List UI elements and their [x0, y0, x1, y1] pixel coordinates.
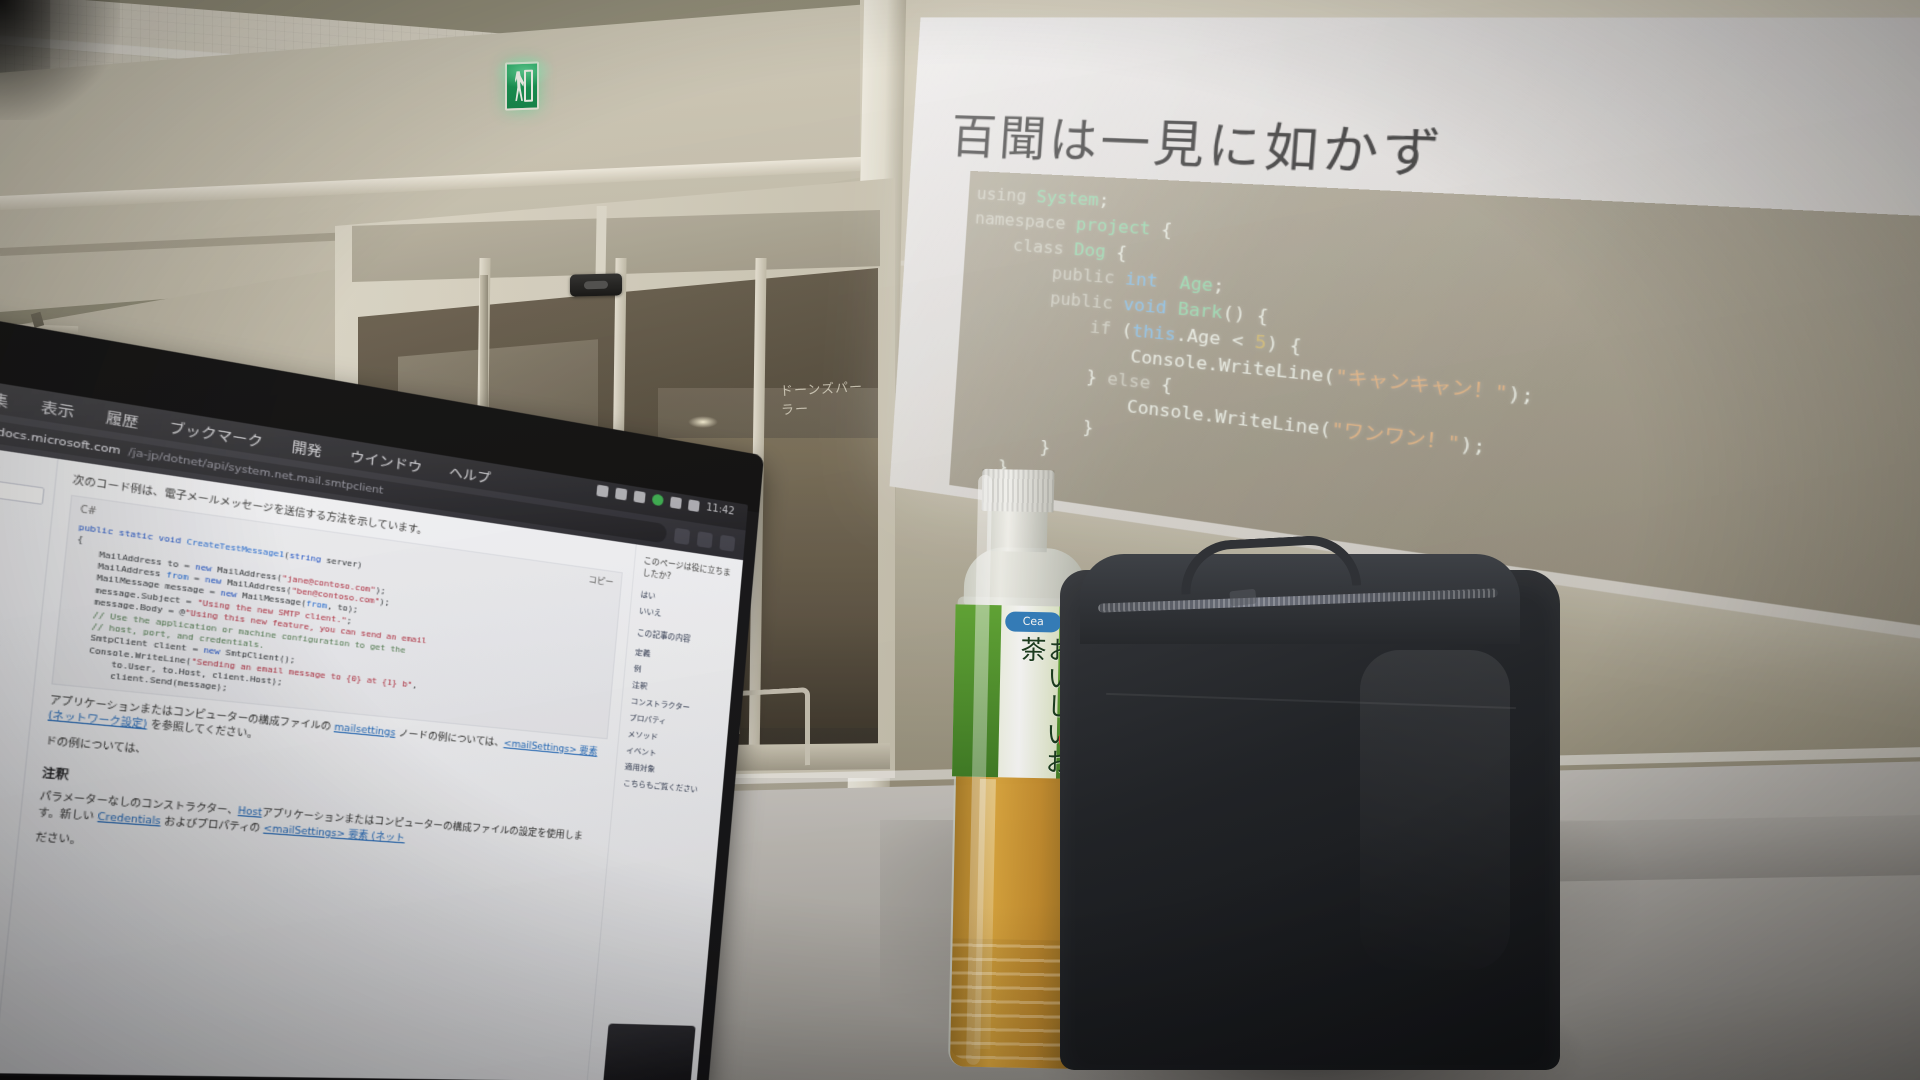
- menubar-clock[interactable]: 11:42: [706, 502, 740, 518]
- para3-after: およびプロパティの: [160, 816, 264, 835]
- volume-icon[interactable]: [633, 491, 645, 504]
- door-motion-sensor: [570, 273, 622, 296]
- spotlight-icon[interactable]: [688, 499, 700, 512]
- new-tab-button[interactable]: [719, 534, 735, 551]
- bag-highlight: [1360, 650, 1510, 970]
- copy-button[interactable]: コピー: [588, 574, 614, 589]
- reload-button[interactable]: [674, 527, 690, 544]
- para1-mid: ノードの例については、: [395, 728, 504, 749]
- black-bag: [1060, 530, 1580, 1080]
- exit-door-icon: [524, 70, 533, 102]
- zipper-pull[interactable]: [1229, 589, 1256, 607]
- link-host[interactable]: Host: [237, 806, 262, 819]
- code-sample-body: public static void CreateTestMessage1(st…: [63, 522, 613, 732]
- corner-shadow: [0, 0, 120, 120]
- wifi-icon[interactable]: [615, 488, 627, 501]
- bottle-cap-ridges: [982, 469, 1055, 512]
- menu-item-help[interactable]: ヘルプ: [448, 460, 491, 487]
- photo-scene: ドーンズパーラー 百聞は一見に如かず using System; namespa…: [0, 0, 1920, 1080]
- bag-handle[interactable]: [1179, 533, 1361, 594]
- bottle-cap[interactable]: [982, 469, 1055, 512]
- bottle-brand-logo: Cea: [1005, 611, 1061, 632]
- link-credentials[interactable]: Credentials: [97, 811, 161, 827]
- chevron-down-icon: ⌄: [0, 460, 2, 473]
- bottle-neck: [987, 509, 1048, 552]
- emergency-exit-sign: [505, 61, 539, 110]
- dropbox-icon[interactable]: [596, 485, 608, 498]
- link-mailsettings[interactable]: mailsettings: [334, 722, 396, 739]
- laptop-trackpad[interactable]: [603, 1023, 696, 1080]
- menu-item-view[interactable]: 表示: [40, 394, 76, 421]
- battery-icon[interactable]: [652, 493, 664, 506]
- menu-item-history[interactable]: 履歴: [105, 405, 140, 432]
- menu-item-edit[interactable]: 編集: [0, 384, 10, 412]
- sensor-lens: [584, 281, 608, 290]
- bracket-arm: [31, 312, 44, 328]
- code-language-label: C#: [80, 504, 97, 517]
- menu-item-develop[interactable]: 開発: [291, 435, 323, 461]
- door-handle[interactable]: [480, 275, 488, 425]
- share-button[interactable]: [697, 531, 713, 548]
- docs-main-content: 次のコード例は、電子メールメッセージを送信する方法を示しています。 C# コピー…: [0, 459, 636, 1080]
- ceiling-lamp: [688, 416, 718, 428]
- input-source-icon[interactable]: [670, 496, 682, 509]
